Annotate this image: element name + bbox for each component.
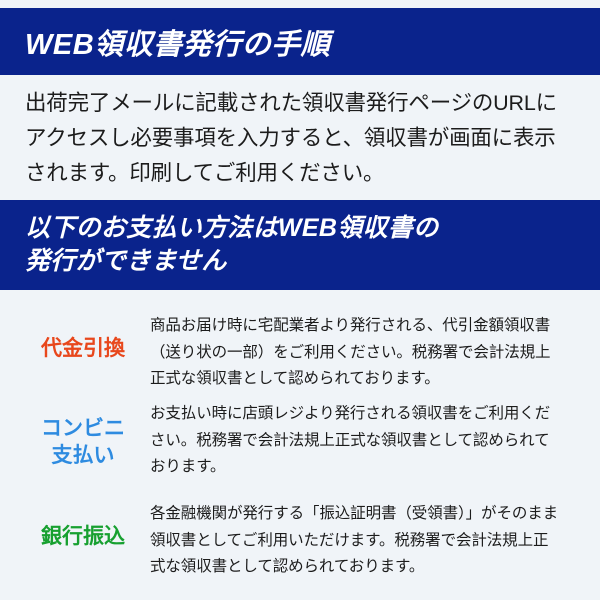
intro-line-2: アクセスし必要事項を入力すると、領収書が画面に表示 — [25, 121, 581, 156]
convenience-store-label-line-1: コンビニ — [41, 416, 125, 443]
payment-method-label-cod-line-1: 代金引換 — [41, 336, 125, 363]
bank-transfer-desc-line-3: 式な領収書として認められております。 — [150, 554, 586, 581]
bank-transfer-desc-line-2: 領収書としてご利用いただけます。税務署で会計法規上正 — [150, 528, 586, 555]
notice-line-1: 以下のお支払い方法はWEB領収書の — [25, 212, 600, 245]
notice-banner: 以下のお支払い方法はWEB領収書の 発行ができません — [0, 200, 600, 290]
payment-method-label-cod: 代金引換 — [22, 305, 144, 393]
payment-method-label-convenience-store: コンビニ 支払い — [22, 393, 144, 493]
page-title-banner: WEB領収書発行の手順 — [0, 8, 600, 75]
intro-paragraph: 出荷完了メールに記載された領収書発行ページのURLに アクセスし必要事項を入力す… — [25, 86, 581, 190]
payment-method-row-bank-transfer: 銀行振込 各金融機関が発行する「振込証明書（受領書）」がそのまま 領収書としてご… — [0, 493, 600, 581]
intro-line-3: されます。印刷してご利用ください。 — [25, 156, 581, 191]
payment-method-row-convenience-store: コンビニ 支払い お支払い時に店頭レジより発行される領収書をご利用くだ さい。税… — [0, 393, 600, 493]
convenience-store-desc-line-1: お支払い時に店頭レジより発行される領収書をご利用くだ — [150, 401, 586, 428]
convenience-store-desc-line-2: さい。税務署で会計法規上正式な領収書として認められて — [150, 428, 586, 455]
receipt-info-page: WEB領収書発行の手順 出荷完了メールに記載された領収書発行ページのURLに ア… — [0, 0, 600, 600]
page-title: WEB領収書発行の手順 — [25, 21, 330, 63]
payment-method-description-convenience-store: お支払い時に店頭レジより発行される領収書をご利用くだ さい。税務署で会計法規上正… — [144, 393, 600, 481]
notice-line-2: 発行ができません — [25, 245, 600, 278]
payment-methods-list: 代金引換 商品お届け時に宅配業者より発行される、代引金額領収書 （送り状の一部）… — [0, 305, 600, 581]
cod-desc-line-2: （送り状の一部）をご利用ください。税務署で会計法規上 — [150, 340, 586, 367]
bank-transfer-desc-line-1: 各金融機関が発行する「振込証明書（受領書）」がそのまま — [150, 501, 586, 528]
bank-transfer-label-line-1: 銀行振込 — [41, 524, 125, 551]
payment-method-description-cod: 商品お届け時に宅配業者より発行される、代引金額領収書 （送り状の一部）をご利用く… — [144, 305, 600, 393]
convenience-store-desc-line-3: おります。 — [150, 454, 586, 481]
payment-method-row-cod: 代金引換 商品お届け時に宅配業者より発行される、代引金額領収書 （送り状の一部）… — [0, 305, 600, 393]
payment-method-description-bank-transfer: 各金融機関が発行する「振込証明書（受領書）」がそのまま 領収書としてご利用いただ… — [144, 493, 600, 581]
cod-desc-line-3: 正式な領収書として認められております。 — [150, 366, 586, 393]
convenience-store-label-line-2: 支払い — [52, 443, 115, 470]
payment-method-label-bank-transfer: 銀行振込 — [22, 493, 144, 581]
cod-desc-line-1: 商品お届け時に宅配業者より発行される、代引金額領収書 — [150, 313, 586, 340]
intro-line-1: 出荷完了メールに記載された領収書発行ページのURLに — [25, 86, 581, 121]
